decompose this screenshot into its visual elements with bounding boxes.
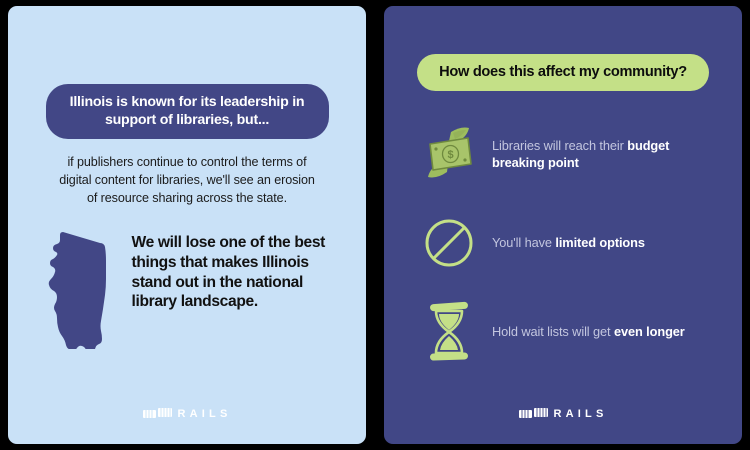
illinois-map-icon	[46, 229, 118, 349]
right-headline-pill: How does this affect my community?	[417, 54, 709, 91]
impact-text-bold: limited options	[555, 235, 645, 250]
list-item: Hold wait lists will get even longer	[418, 299, 708, 365]
impact-text: You'll have limited options	[492, 234, 708, 251]
impact-text-bold: even longer	[614, 324, 685, 339]
impact-text-plain: You'll have	[492, 235, 555, 250]
hourglass-icon	[418, 299, 480, 365]
impact-text-plain: Hold wait lists will get	[492, 324, 614, 339]
impact-text-plain: Libraries will reach their	[492, 138, 627, 153]
rails-logo-mark	[143, 407, 173, 420]
left-body-copy: if publishers continue to control the te…	[53, 153, 321, 207]
impact-list: $ Libraries will reach their budget brea…	[418, 121, 708, 365]
list-item: You'll have limited options	[418, 210, 708, 276]
svg-text:$: $	[447, 149, 453, 161]
right-panel: How does this affect my community?	[384, 6, 742, 444]
no-entry-prohibited-icon	[418, 210, 480, 276]
impact-text: Hold wait lists will get even longer	[492, 323, 708, 340]
rails-logo-left: RAILS	[8, 407, 366, 420]
rails-logo-wordmark: RAILS	[178, 408, 232, 420]
infographic-canvas: Illinois is known for its leadership in …	[0, 0, 750, 450]
left-big-statement: We will lose one of the best things that…	[132, 229, 329, 312]
rails-logo-right: RAILS	[384, 407, 742, 420]
rails-logo-wordmark: RAILS	[554, 408, 608, 420]
left-panel: Illinois is known for its leadership in …	[8, 6, 366, 444]
list-item: $ Libraries will reach their budget brea…	[418, 121, 708, 187]
left-headline-pill: Illinois is known for its leadership in …	[46, 84, 329, 139]
rails-logo-mark	[519, 407, 549, 420]
state-statement-row: We will lose one of the best things that…	[46, 229, 329, 349]
impact-text: Libraries will reach their budget breaki…	[492, 137, 708, 172]
winged-dollar-bill-icon: $	[418, 121, 480, 187]
